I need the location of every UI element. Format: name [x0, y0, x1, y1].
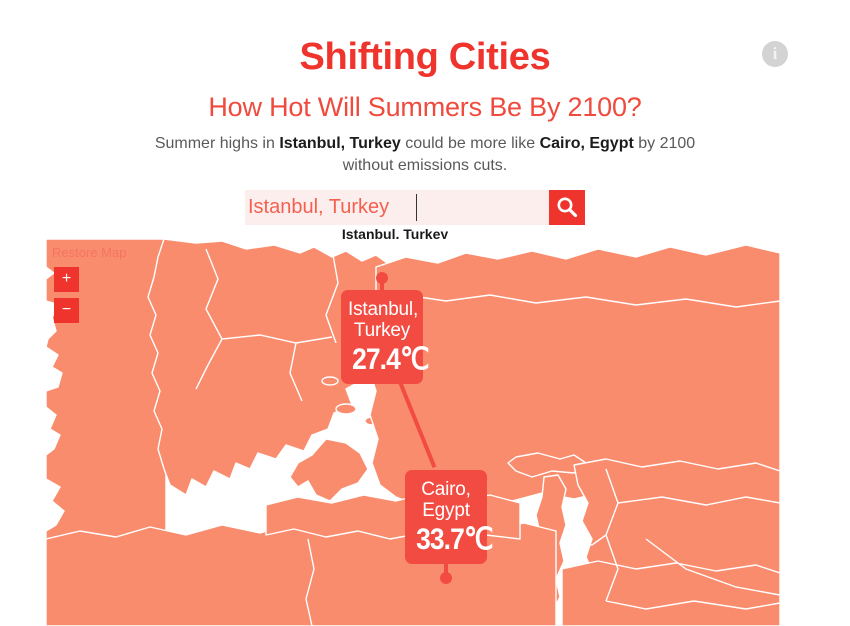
tooltip-istanbul-city-line2: Turkey — [348, 320, 416, 341]
page-subtitle: How Hot Will Summers Be By 2100? — [0, 78, 850, 121]
tooltip-istanbul[interactable]: Istanbul, Turkey 27.4℃ — [341, 290, 423, 384]
desc-mid: could be more like — [401, 135, 540, 152]
tooltip-istanbul-temperature: 27.4℃ — [352, 343, 412, 376]
tooltip-cairo-city-line1: Cairo, — [412, 479, 480, 500]
search-button[interactable] — [549, 190, 585, 225]
desc-pre: Summer highs in — [155, 135, 280, 152]
text-caret — [416, 194, 417, 221]
page-description: Summer highs in Istanbul, Turkey could b… — [150, 121, 700, 176]
zoom-in-button[interactable]: + — [54, 267, 79, 292]
tooltip-cairo-city-line2: Egypt — [412, 500, 480, 521]
tooltip-cairo[interactable]: Cairo, Egypt 33.7℃ — [405, 470, 487, 564]
restore-map-button[interactable]: Restore Map — [52, 245, 126, 260]
info-icon[interactable]: i — [762, 41, 788, 67]
istanbul-marker-dot[interactable] — [376, 272, 388, 284]
cairo-marker-dot[interactable] — [440, 572, 452, 584]
tooltip-cairo-temperature: 33.7℃ — [416, 523, 476, 556]
zoom-out-button[interactable]: − — [54, 298, 79, 323]
desc-city-from: Istanbul, Turkey — [279, 135, 401, 152]
search-bar — [245, 190, 585, 225]
page-header: Shifting Cities How Hot Will Summers Be … — [0, 0, 850, 176]
search-input[interactable] — [245, 190, 549, 225]
tooltip-istanbul-city-line1: Istanbul, — [348, 299, 416, 320]
page-title: Shifting Cities — [0, 0, 850, 78]
desc-city-to: Cairo, Egypt — [540, 135, 634, 152]
